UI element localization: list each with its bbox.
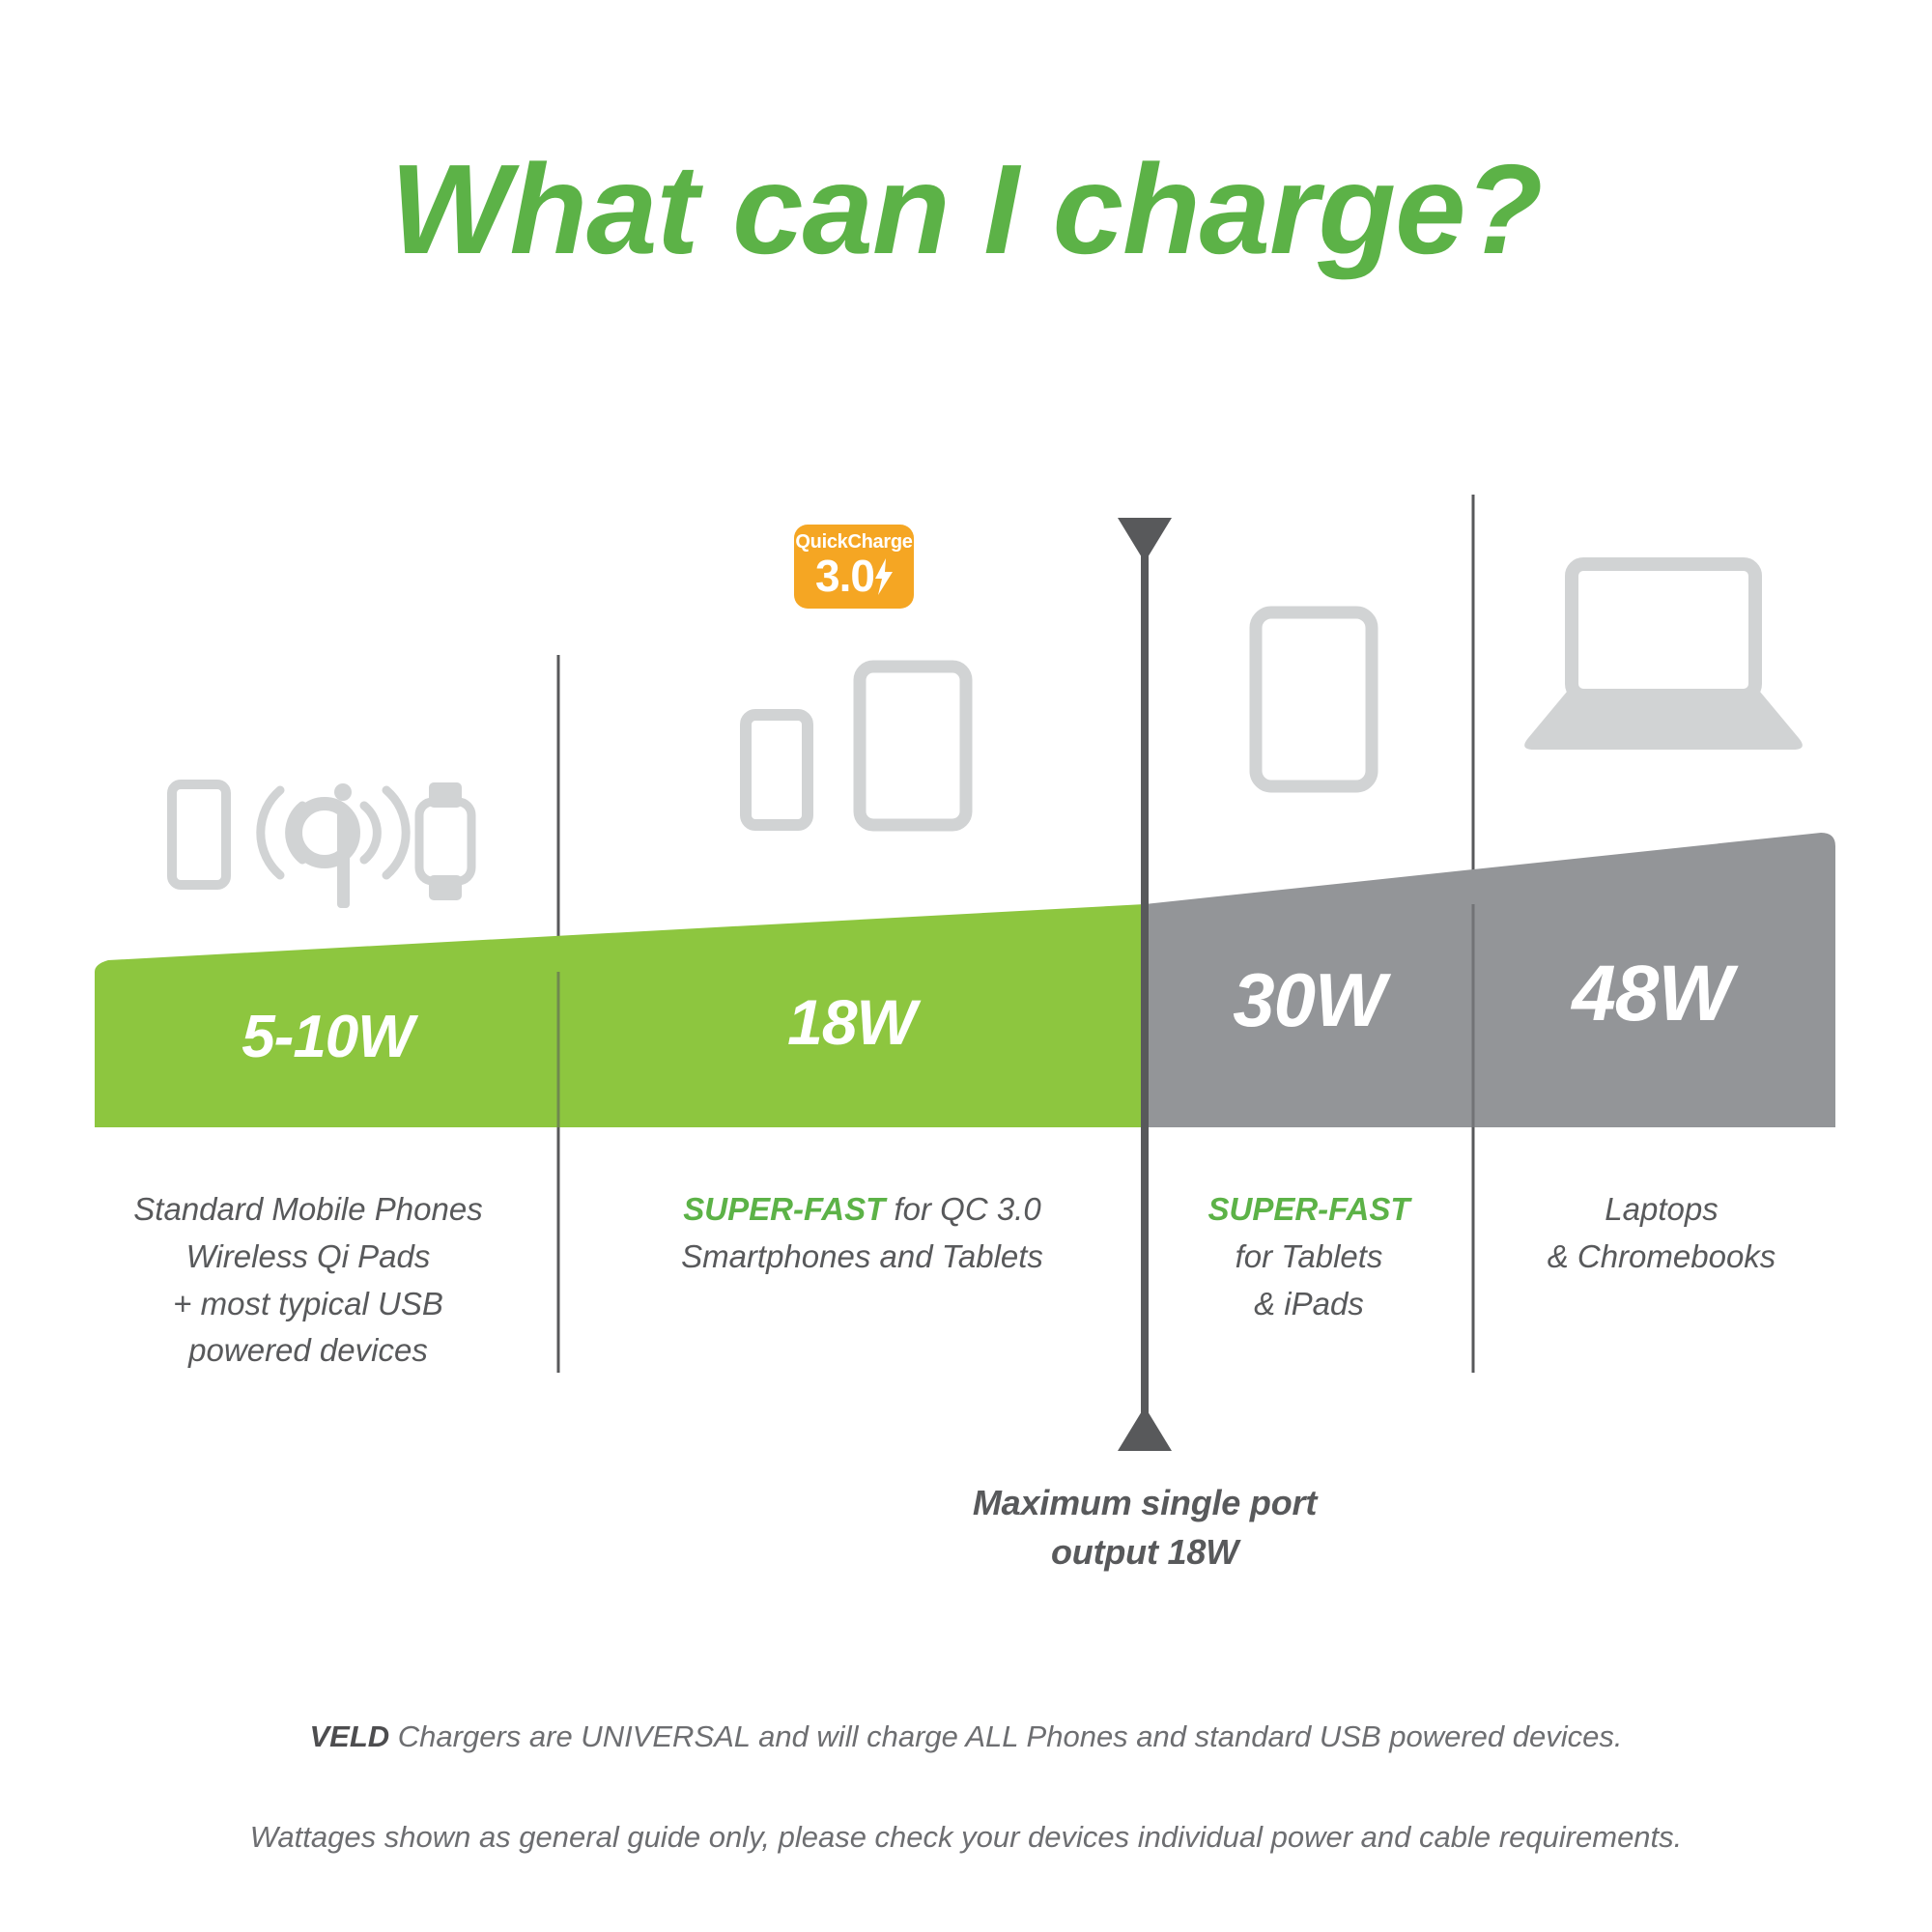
max-port-annotation: Maximum single port output 18W xyxy=(874,1478,1415,1577)
column-caption-3: SUPER-FAST for Tablets & iPads xyxy=(1159,1186,1459,1327)
caption-line: for Tablets xyxy=(1159,1234,1459,1281)
column-caption-4: Laptops & Chromebooks xyxy=(1478,1186,1845,1281)
caption-line: + most typical USB xyxy=(77,1281,539,1328)
lightning-bolt-icon xyxy=(875,558,893,595)
caption-line: SUPER-FAST xyxy=(1159,1186,1459,1234)
caption-line: Laptops xyxy=(1478,1186,1845,1234)
caption-line: powered devices xyxy=(77,1327,539,1375)
quickcharge-version: 3.0 xyxy=(815,554,874,598)
caption-line: Standard Mobile Phones xyxy=(77,1186,539,1234)
max-port-arrow-head-bottom xyxy=(1118,1406,1172,1451)
caption-line: & Chromebooks xyxy=(1478,1234,1845,1281)
infographic-page: What can I charge? xyxy=(0,0,1932,1932)
qi-wireless-icon xyxy=(261,783,406,908)
annotation-line-1: Maximum single port xyxy=(874,1478,1415,1527)
annotation-line-2: output 18W xyxy=(874,1527,1415,1577)
tablet-icon-3 xyxy=(1256,612,1372,786)
wattage-label-1: 5-10W xyxy=(97,1003,558,1071)
quickcharge-version-row: 3.0 xyxy=(794,554,914,598)
caption-line: & iPads xyxy=(1159,1281,1459,1328)
column-caption-2: SUPER-FAST for QC 3.0 Smartphones and Ta… xyxy=(580,1186,1145,1281)
caption-line-rest: for QC 3.0 xyxy=(885,1191,1040,1227)
footer-line-2: Wattages shown as general guide only, pl… xyxy=(0,1820,1932,1855)
caption-line: Smartphones and Tablets xyxy=(580,1234,1145,1281)
column-caption-1: Standard Mobile Phones Wireless Qi Pads … xyxy=(77,1186,539,1375)
phone-icon xyxy=(172,784,226,885)
quickcharge-badge: QuickCharge 3.0 xyxy=(794,525,914,609)
super-fast-highlight: SUPER-FAST xyxy=(1207,1191,1409,1227)
quickcharge-label: QuickCharge xyxy=(794,532,914,552)
footer-line-1-rest: Chargers are UNIVERSAL and will charge A… xyxy=(389,1719,1622,1753)
charge-chart: QuickCharge 3.0 5-10W 18W 30W 48W Standa… xyxy=(0,0,1932,1932)
brand-name: VELD xyxy=(309,1719,389,1753)
wattage-label-2: 18W xyxy=(558,985,1145,1059)
super-fast-highlight: SUPER-FAST xyxy=(683,1191,885,1227)
footer-line-1: VELD Chargers are UNIVERSAL and will cha… xyxy=(0,1719,1932,1754)
wattage-label-3: 30W xyxy=(1145,956,1473,1044)
wattage-label-4: 48W xyxy=(1473,949,1831,1039)
smartwatch-icon xyxy=(419,782,471,900)
caption-line: Wireless Qi Pads xyxy=(77,1234,539,1281)
phone-icon-2 xyxy=(746,715,808,825)
max-port-arrow-head-top xyxy=(1118,518,1172,562)
tablet-icon-2 xyxy=(860,667,966,825)
laptop-icon xyxy=(1524,564,1803,750)
caption-line: SUPER-FAST for QC 3.0 xyxy=(580,1186,1145,1234)
